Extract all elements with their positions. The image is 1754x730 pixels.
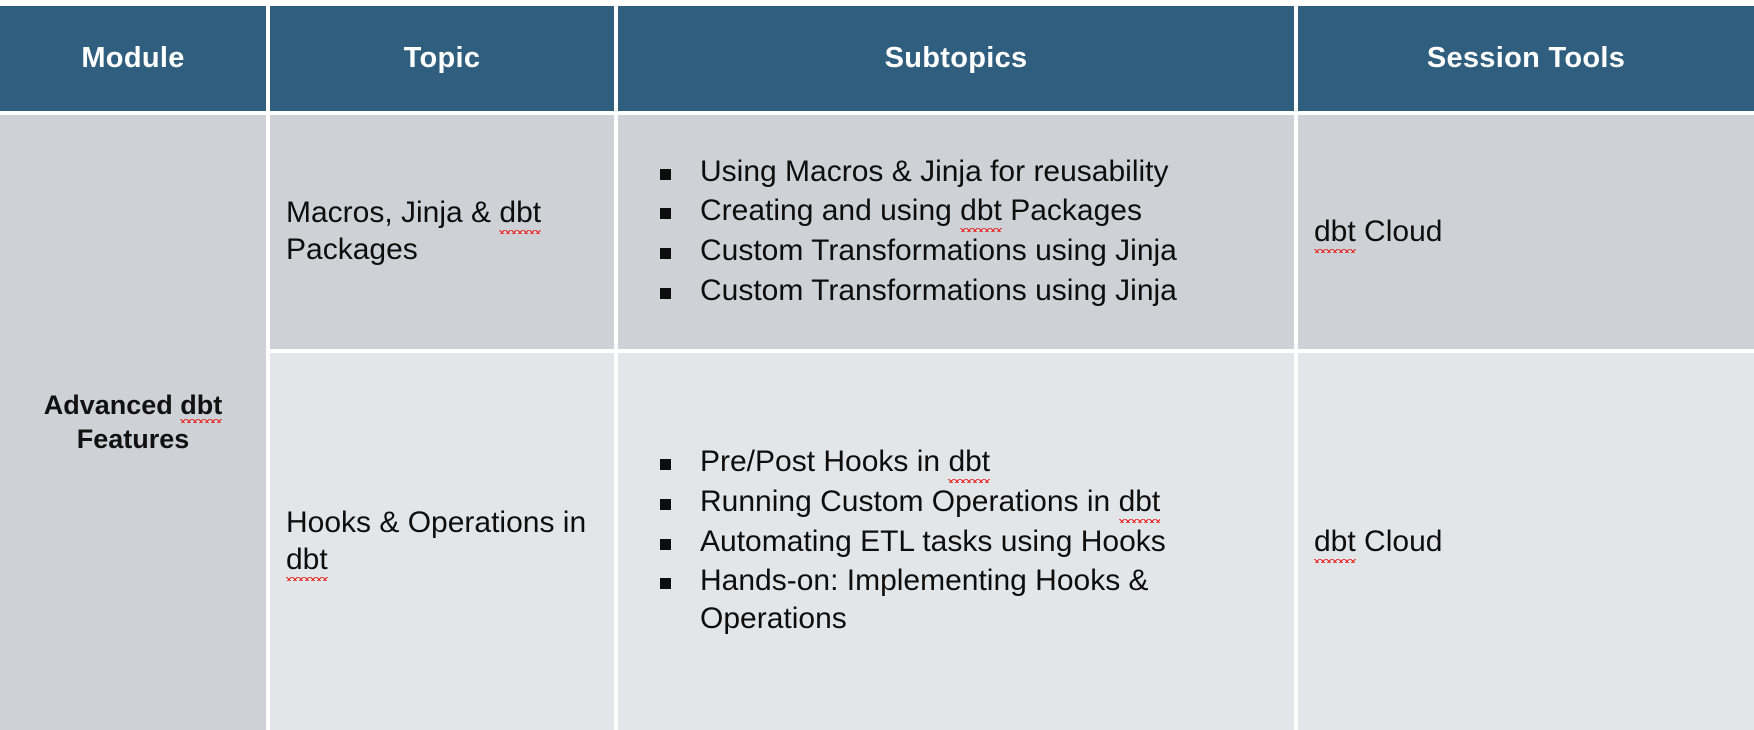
column-header-subtopics-label: Subtopics: [885, 42, 1028, 75]
topic-text-pre: Hooks & Operations in: [286, 506, 586, 539]
session-tool-text-post: Cloud: [1356, 525, 1443, 558]
subtopic-text-pre: Pre/Post Hooks in: [700, 445, 948, 478]
table-header-row: Module Topic Subtopics Session Tools: [0, 6, 1754, 111]
subtopic-text-pre: Custom Transformations using Jinja: [700, 234, 1177, 267]
subtopic-misspelled-word: dbt: [948, 445, 990, 478]
list-item: Automating ETL tasks using Hooks: [642, 523, 1276, 561]
list-item: Running Custom Operations in dbt: [642, 483, 1276, 521]
table-rows-container: Macros, Jinja & dbt Packages Using Macro…: [270, 115, 1754, 730]
session-tool-text: dbt Cloud: [1314, 215, 1736, 249]
cell-session-tools-row-1: dbt Cloud: [1298, 115, 1754, 349]
table-row: Hooks & Operations in dbt Pre/Post Hooks…: [270, 353, 1754, 730]
subtopic-text-pre: Running Custom Operations in: [700, 485, 1119, 518]
cell-subtopics-row-1: Using Macros & Jinja for reusability Cre…: [618, 115, 1298, 349]
cell-topic-macros-jinja-dbt-packages: Macros, Jinja & dbt Packages: [270, 115, 618, 349]
subtopics-list: Pre/Post Hooks in dbt Running Custom Ope…: [642, 443, 1276, 639]
subtopic-text-pre: Automating ETL tasks using Hooks: [700, 525, 1166, 558]
subtopic-text-pre: Hands-on: Implementing Hooks & Operation…: [700, 564, 1149, 635]
column-header-subtopics: Subtopics: [618, 6, 1298, 111]
column-header-topic: Topic: [270, 6, 618, 111]
topic-text: Hooks & Operations in dbt: [286, 505, 604, 578]
topic-misspelled-word: dbt: [286, 543, 328, 576]
list-item: Using Macros & Jinja for reusability: [642, 153, 1276, 191]
table-body: Advanced dbt Features Macros, Jinja & db…: [0, 115, 1754, 730]
column-header-module: Module: [0, 6, 270, 111]
session-tool-text: dbt Cloud: [1314, 525, 1736, 559]
subtopic-text-pre: Using Macros & Jinja for reusability: [700, 155, 1169, 188]
topic-misspelled-word: dbt: [499, 196, 541, 229]
topic-text: Macros, Jinja & dbt Packages: [286, 195, 604, 268]
topic-text-post: Packages: [286, 233, 418, 266]
session-tool-misspelled-word: dbt: [1314, 215, 1356, 248]
topic-text-pre: Macros, Jinja &: [286, 196, 499, 229]
column-header-topic-label: Topic: [404, 42, 481, 75]
subtopic-misspelled-word: dbt: [960, 194, 1002, 227]
table-row: Macros, Jinja & dbt Packages Using Macro…: [270, 115, 1754, 353]
subtopic-text-post: Packages: [1002, 194, 1142, 227]
session-tool-misspelled-word: dbt: [1314, 525, 1356, 558]
cell-subtopics-row-2: Pre/Post Hooks in dbt Running Custom Ope…: [618, 353, 1298, 730]
subtopic-text-pre: Custom Transformations using Jinja: [700, 274, 1177, 307]
subtopic-misspelled-word: dbt: [1119, 485, 1161, 518]
subtopic-text-pre: Creating and using: [700, 194, 960, 227]
session-tool-text-post: Cloud: [1356, 215, 1443, 248]
column-header-module-label: Module: [81, 42, 184, 75]
list-item: Custom Transformations using Jinja: [642, 272, 1276, 310]
cell-module-advanced-dbt-features: Advanced dbt Features: [0, 115, 270, 730]
list-item: Creating and using dbt Packages: [642, 192, 1276, 230]
list-item: Pre/Post Hooks in dbt: [642, 443, 1276, 481]
column-header-session-tools-label: Session Tools: [1427, 42, 1625, 75]
cell-topic-hooks-operations-in-dbt: Hooks & Operations in dbt: [270, 353, 618, 730]
module-name-text: Advanced dbt Features: [44, 389, 223, 457]
list-item: Hands-on: Implementing Hooks & Operation…: [642, 562, 1276, 637]
column-header-session-tools: Session Tools: [1298, 6, 1754, 111]
subtopics-list: Using Macros & Jinja for reusability Cre…: [642, 153, 1276, 312]
list-item: Custom Transformations using Jinja: [642, 232, 1276, 270]
module-name-misspelled-word: dbt: [180, 390, 222, 420]
course-module-table: Module Topic Subtopics Session Tools Adv…: [0, 0, 1754, 730]
module-name-line2: Features: [77, 424, 190, 454]
cell-session-tools-row-2: dbt Cloud: [1298, 353, 1754, 730]
module-name-line1: Advanced: [44, 390, 181, 420]
